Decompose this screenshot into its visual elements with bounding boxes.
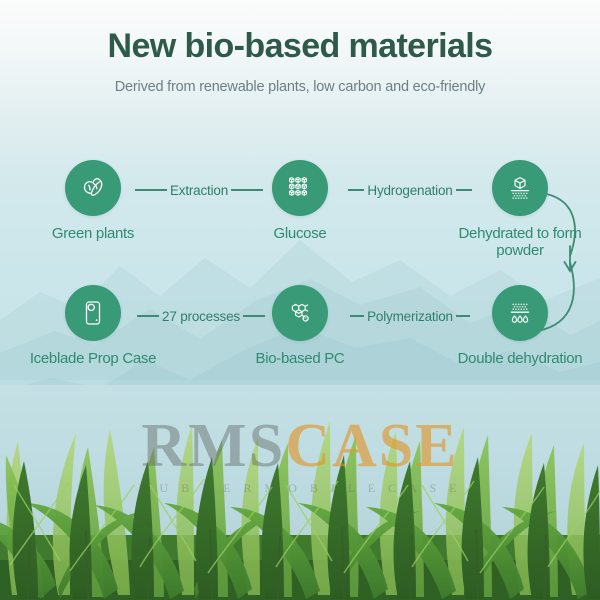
infographic-page: New bio-based materials Derived from ren… <box>0 0 600 600</box>
sugar-cubes-icon <box>285 173 315 203</box>
page-subtitle: Derived from renewable plants, low carbo… <box>0 65 600 95</box>
flow-node-label: Dehydrated to form powder <box>450 225 590 260</box>
flow-node-label: Bio-based PC <box>240 350 360 367</box>
flow-node-label: Iceblade Prop Case <box>3 350 183 367</box>
connector-label: Extraction <box>167 183 231 198</box>
flow-node-label: Double dehydration <box>435 350 600 367</box>
connector-label: Hydrogenation <box>364 183 455 198</box>
connector-line-left <box>348 189 364 191</box>
double-dehydration-circle[interactable] <box>492 285 548 341</box>
page-title: New bio-based materials <box>0 0 600 65</box>
connector-line-left <box>137 315 159 317</box>
flow-node-double-dehydration[interactable]: Double dehydration <box>460 285 580 367</box>
process-flow-diagram: Green plants Extraction <box>0 150 600 400</box>
dehydrated-circle[interactable] <box>492 160 548 216</box>
flow-node-label: Green plants <box>33 225 153 242</box>
connector-label: 27 processes <box>159 309 243 324</box>
svg-text:PC: PC <box>303 316 308 320</box>
flow-node-glucose[interactable]: Glucose <box>240 160 360 242</box>
connector-line-left <box>350 315 364 317</box>
flow-node-dehydrated[interactable]: Dehydrated to form powder <box>460 160 580 260</box>
glucose-circle[interactable] <box>272 160 328 216</box>
powder-droplets-icon <box>504 297 536 329</box>
sugarcane-leaves <box>0 385 600 600</box>
phone-case-icon <box>77 297 109 329</box>
flow-node-label: Glucose <box>240 225 360 242</box>
flow-node-iceblade-case[interactable]: Iceblade Prop Case <box>33 285 153 367</box>
sugarcane-field-photo <box>0 385 600 600</box>
iceblade-case-circle[interactable] <box>65 285 121 341</box>
cube-to-powder-icon <box>504 172 536 204</box>
corn-icon <box>77 172 109 204</box>
molecule-hexagon-icon: PC <box>284 297 316 329</box>
connector-label: Polymerization <box>364 309 456 324</box>
header: New bio-based materials Derived from ren… <box>0 0 600 95</box>
connector-line-left <box>135 189 167 191</box>
bio-based-pc-circle[interactable]: PC <box>272 285 328 341</box>
green-plants-circle[interactable] <box>65 160 121 216</box>
flow-node-bio-based-pc[interactable]: PC Bio-based PC <box>240 285 360 367</box>
flow-node-green-plants[interactable]: Green plants <box>33 160 153 242</box>
